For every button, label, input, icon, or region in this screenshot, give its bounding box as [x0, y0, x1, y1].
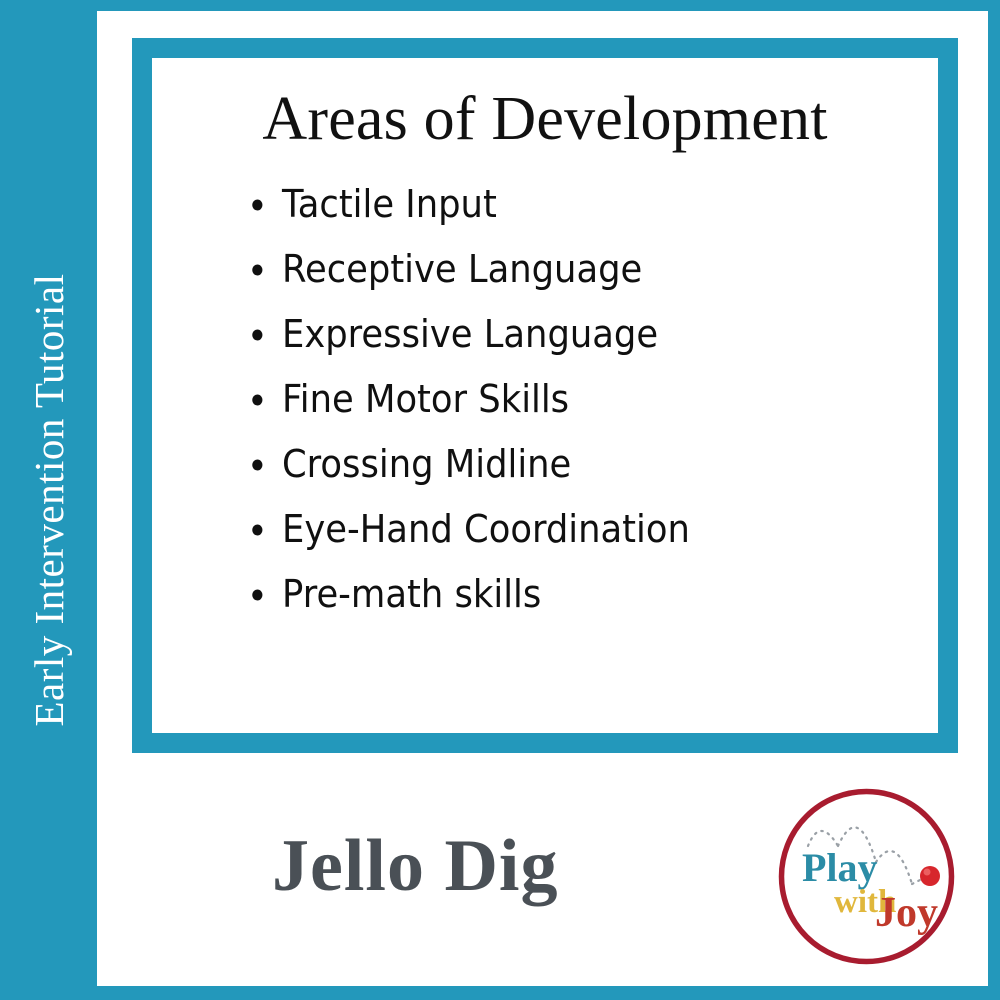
bullet-dot-icon: [252, 329, 262, 340]
page-title: Areas of Development: [186, 88, 904, 150]
bullet-dot-icon: [252, 264, 262, 275]
bottom-border-strip: [0, 986, 1000, 1000]
list-item-label: Tactile Input: [282, 182, 497, 226]
list-item: Crossing Midline: [282, 432, 860, 497]
sidebar-tutorial-label: Early Intervention Tutorial: [25, 273, 73, 726]
list-item-label: Receptive Language: [282, 247, 642, 291]
bouncing-ball-highlight: [924, 869, 931, 876]
list-item: Pre-math skills: [282, 562, 860, 627]
bullet-dot-icon: [252, 199, 262, 210]
play-with-joy-logo: Play with Joy: [778, 788, 955, 965]
list-item: Expressive Language: [282, 302, 860, 367]
content-frame: Areas of Development Tactile Input Recep…: [132, 38, 958, 753]
right-border-strip: [988, 0, 1000, 1000]
list-item: Fine Motor Skills: [282, 367, 860, 432]
footer-section: Jello Dig Play with Joy: [97, 753, 988, 986]
bullet-dot-icon: [252, 459, 262, 470]
content-card: Areas of Development Tactile Input Recep…: [152, 58, 938, 733]
list-item-label: Expressive Language: [282, 312, 658, 356]
list-item-label: Crossing Midline: [282, 442, 571, 486]
list-item-label: Fine Motor Skills: [282, 377, 569, 421]
areas-of-development-list: Tactile Input Receptive Language Express…: [186, 172, 904, 627]
activity-title: Jello Dig: [272, 829, 558, 903]
bullet-dot-icon: [252, 524, 262, 535]
poster-canvas: Early Intervention Tutorial Areas of Dev…: [0, 0, 1000, 1000]
logo-word-joy: Joy: [875, 890, 938, 936]
bullet-dot-icon: [252, 589, 262, 600]
list-item: Eye-Hand Coordination: [282, 497, 860, 562]
list-item: Tactile Input: [282, 172, 860, 237]
top-border-strip: [0, 0, 1000, 11]
list-item-label: Eye-Hand Coordination: [282, 507, 690, 551]
sidebar-banner: Early Intervention Tutorial: [0, 0, 97, 1000]
list-item: Receptive Language: [282, 237, 860, 302]
bouncing-ball: [920, 866, 940, 886]
list-item-label: Pre-math skills: [282, 572, 541, 616]
bullet-dot-icon: [252, 394, 262, 405]
